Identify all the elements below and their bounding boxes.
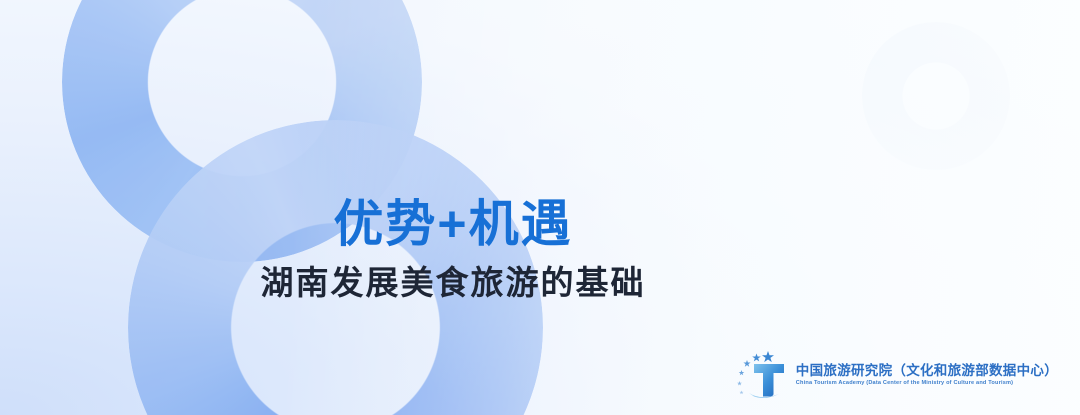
organization-logo: 中国旅游研究院（文化和旅游部数据中心） China Tourism Academ… — [732, 349, 1058, 401]
organization-name-en: China Tourism Academy (Data Center of th… — [796, 380, 1058, 387]
china-tourism-academy-t-mark — [732, 349, 788, 401]
organization-name-block: 中国旅游研究院（文化和旅游部数据中心） China Tourism Academ… — [796, 363, 1058, 387]
decorative-ring-top-right — [862, 22, 1010, 170]
slide-subheadline: 湖南发展美食旅游的基础 — [0, 264, 906, 302]
letter-t-shape — [754, 364, 784, 397]
organization-name-cn: 中国旅游研究院（文化和旅游部数据中心） — [796, 363, 1058, 379]
slide-text-block: 优势+机遇 湖南发展美食旅游的基础 — [0, 196, 1080, 302]
presentation-slide: 优势+机遇 湖南发展美食旅游的基础 — [0, 0, 1080, 415]
slide-headline: 优势+机遇 — [0, 196, 906, 252]
